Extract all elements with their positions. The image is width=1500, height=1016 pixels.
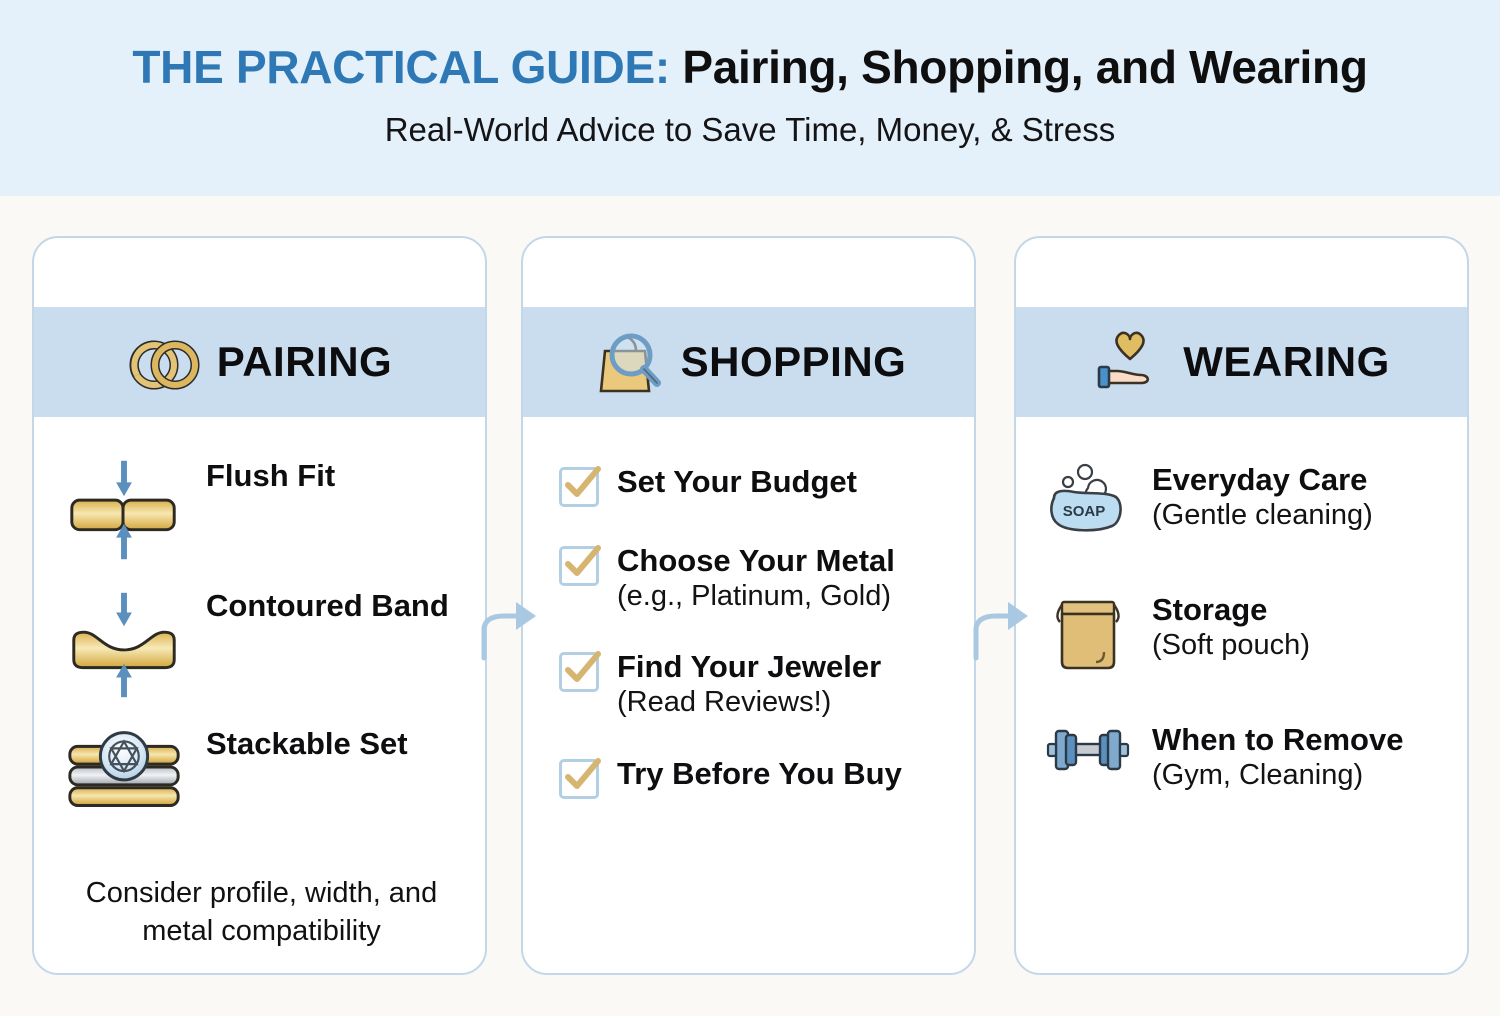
list-item-label: When to Remove (1152, 722, 1403, 757)
list-item-text-contoured-band: Contoured Band (206, 586, 449, 623)
checkbox-checked-icon[interactable] (559, 652, 599, 692)
list-item-sublabel: (Gym, Cleaning) (1152, 759, 1403, 792)
list-item-label: Try Before You Buy (617, 756, 902, 791)
list-item-label: Contoured Band (206, 588, 449, 623)
wearing-item-list: SOAP Everyday Care (Gentle cleaning) (1042, 456, 1445, 792)
list-item-text-storage: Storage (Soft pouch) (1152, 590, 1310, 662)
list-item-label: Choose Your Metal (617, 543, 895, 578)
list-item-label: Find Your Jeweler (617, 649, 881, 684)
card-header-label-pairing: PAIRING (217, 338, 392, 386)
list-item-when-to-remove: When to Remove (Gym, Cleaning) (1042, 720, 1445, 792)
dumbbell-icon (1042, 720, 1134, 780)
list-item-label: Storage (1152, 592, 1267, 627)
pouch-bag-icon (1042, 590, 1134, 676)
list-item-text-when-to-remove: When to Remove (Gym, Cleaning) (1152, 720, 1403, 792)
page-banner: THE PRACTICAL GUIDE: Pairing, Shopping, … (0, 0, 1500, 196)
interlocking-rings-icon (127, 325, 201, 399)
pairing-footnote: Consider profile, width, and metal compa… (60, 874, 463, 951)
list-item-everyday-care: SOAP Everyday Care (Gentle cleaning) (1042, 460, 1445, 546)
checkbox-checked-icon[interactable] (559, 759, 599, 799)
card-body-wearing: SOAP Everyday Care (Gentle cleaning) (1016, 428, 1467, 792)
list-item-storage: Storage (Soft pouch) (1042, 590, 1445, 676)
card-shopping: SHOPPING Set Your Budget Choose Your Met… (521, 236, 976, 975)
curved-arrow-right-icon (966, 592, 1036, 662)
stackable-set-icon (60, 724, 188, 820)
card-header-wearing: WEARING (1016, 307, 1467, 417)
checkbox-checked-icon[interactable] (559, 546, 599, 586)
checklist-item-text: Set Your Budget (617, 462, 857, 499)
checklist-item-choose-your-metal[interactable]: Choose Your Metal (e.g., Platinum, Gold) (559, 541, 952, 613)
page-title: THE PRACTICAL GUIDE: Pairing, Shopping, … (0, 42, 1500, 93)
list-item-stackable-set: Stackable Set (60, 724, 463, 820)
checklist-item-try-before-you-buy[interactable]: Try Before You Buy (559, 754, 952, 799)
contoured-band-icon (60, 586, 188, 704)
list-item-label: Stackable Set (206, 726, 408, 761)
card-wearing: WEARING SOAP Everyday Care (Gentle clean… (1014, 236, 1469, 975)
list-item-text-everyday-care: Everyday Care (Gentle cleaning) (1152, 460, 1373, 532)
list-item-label: Everyday Care (1152, 462, 1367, 497)
list-item-sublabel: (e.g., Platinum, Gold) (617, 580, 895, 613)
shopping-bag-magnifier-icon (591, 325, 665, 399)
card-header-shopping: SHOPPING (523, 307, 974, 417)
checkbox-checked-icon[interactable] (559, 467, 599, 507)
checklist-item-text: Choose Your Metal (e.g., Platinum, Gold) (617, 541, 895, 613)
checklist-item-set-your-budget[interactable]: Set Your Budget (559, 462, 952, 507)
card-header-label-shopping: SHOPPING (681, 338, 907, 386)
list-item-text-stackable-set: Stackable Set (206, 724, 408, 761)
curved-arrow-right-icon (474, 592, 544, 662)
card-body-shopping: Set Your Budget Choose Your Metal (e.g.,… (523, 428, 974, 799)
soap-bar-icon: SOAP (1042, 460, 1134, 546)
list-item-label: Set Your Budget (617, 464, 857, 499)
checklist-item-text: Find Your Jeweler (Read Reviews!) (617, 647, 881, 719)
flush-fit-bands-icon (60, 456, 188, 564)
list-item-flush-fit: Flush Fit (60, 456, 463, 564)
card-header-pairing: PAIRING (34, 307, 485, 417)
pairing-item-list: Flush Fit (60, 456, 463, 820)
checklist-item-find-your-jeweler[interactable]: Find Your Jeweler (Read Reviews!) (559, 647, 952, 719)
shopping-checklist: Set Your Budget Choose Your Metal (e.g.,… (549, 456, 952, 799)
list-item-sublabel: (Read Reviews!) (617, 686, 881, 719)
list-item-text-flush-fit: Flush Fit (206, 456, 335, 493)
card-pairing: PAIRING (32, 236, 487, 975)
hand-heart-icon (1093, 325, 1167, 399)
list-item-contoured-band: Contoured Band (60, 586, 463, 704)
list-item-sublabel: (Gentle cleaning) (1152, 499, 1373, 532)
card-body-pairing: Flush Fit (34, 428, 485, 951)
page-subtitle: Real-World Advice to Save Time, Money, &… (0, 111, 1500, 149)
page-title-accent: THE PRACTICAL GUIDE: (132, 41, 670, 93)
list-item-sublabel: (Soft pouch) (1152, 629, 1310, 662)
page-title-rest: Pairing, Shopping, and Wearing (670, 41, 1368, 93)
card-header-label-wearing: WEARING (1183, 338, 1390, 386)
svg-text:SOAP: SOAP (1063, 503, 1106, 520)
checklist-item-text: Try Before You Buy (617, 754, 902, 791)
list-item-label: Flush Fit (206, 458, 335, 493)
